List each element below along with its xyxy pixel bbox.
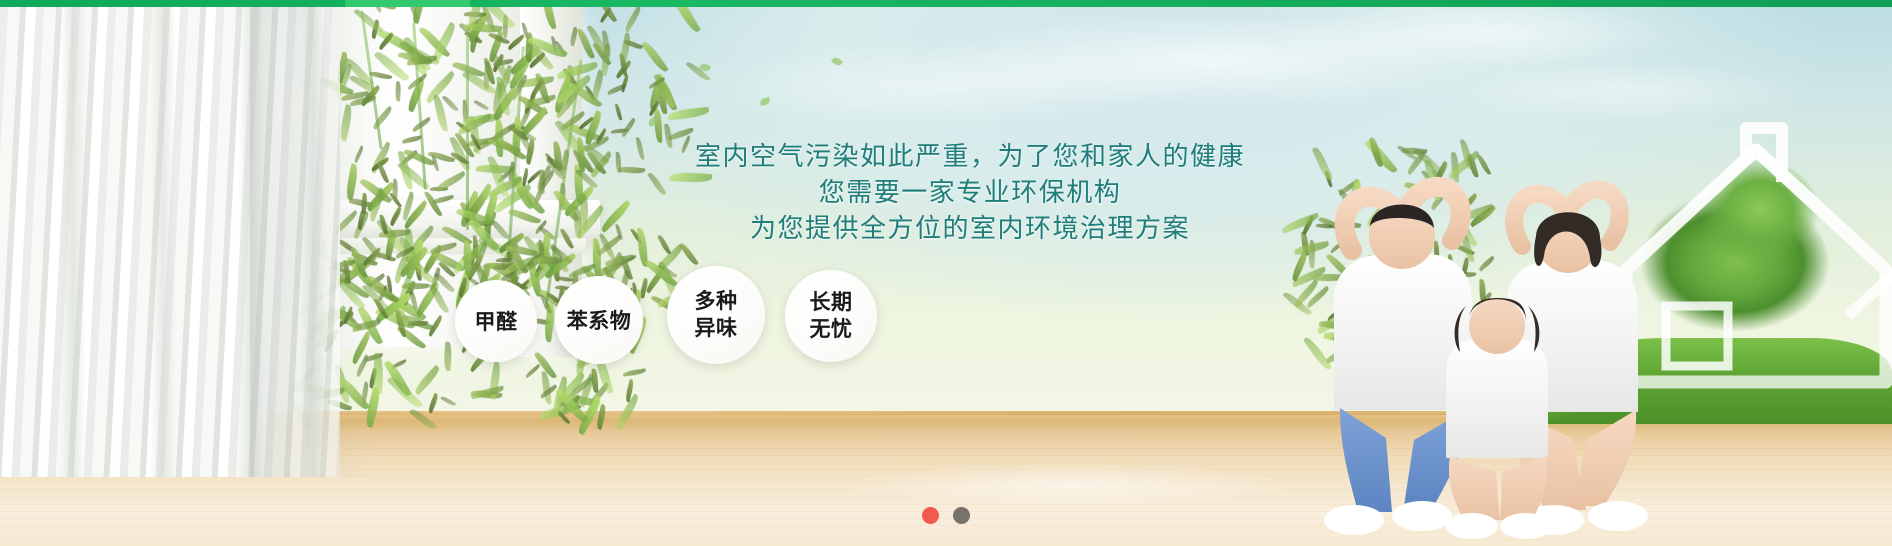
hero-banner: 室内空气污染如此严重，为了您和家人的健康 您需要一家专业环保机构 为您提供全方位… xyxy=(0,0,1892,546)
carousel-dot-1[interactable] xyxy=(922,507,939,524)
curtain-shadow xyxy=(250,7,370,477)
badge-label: 长期无忧 xyxy=(810,289,853,343)
curtain-fold xyxy=(150,7,176,477)
badge-label: 多种异味 xyxy=(695,288,738,342)
badge-long-term[interactable]: 长期无忧 xyxy=(785,270,877,362)
headline-line-1: 室内空气污染如此严重，为了您和家人的健康 xyxy=(620,138,1320,174)
top-green-bar xyxy=(0,0,1892,7)
family-photo xyxy=(1300,120,1720,540)
headline-line-2: 您需要一家专业环保机构 xyxy=(620,174,1320,210)
badge-label: 苯系物 xyxy=(567,305,632,335)
headline-block: 室内空气污染如此严重，为了您和家人的健康 您需要一家专业环保机构 为您提供全方位… xyxy=(620,138,1320,246)
headline-line-3: 为您提供全方位的室内环境治理方案 xyxy=(620,210,1320,246)
carousel-dots xyxy=(0,500,1892,530)
badge-benzene[interactable]: 苯系物 xyxy=(555,276,643,364)
curtain-fold xyxy=(60,7,86,477)
carousel-dot-2[interactable] xyxy=(953,507,970,524)
badge-formaldehyde[interactable]: 甲醛 xyxy=(455,280,537,362)
badge-label: 甲醛 xyxy=(475,306,518,336)
badge-odors[interactable]: 多种异味 xyxy=(667,266,765,364)
top-green-bar-highlight xyxy=(345,0,470,7)
